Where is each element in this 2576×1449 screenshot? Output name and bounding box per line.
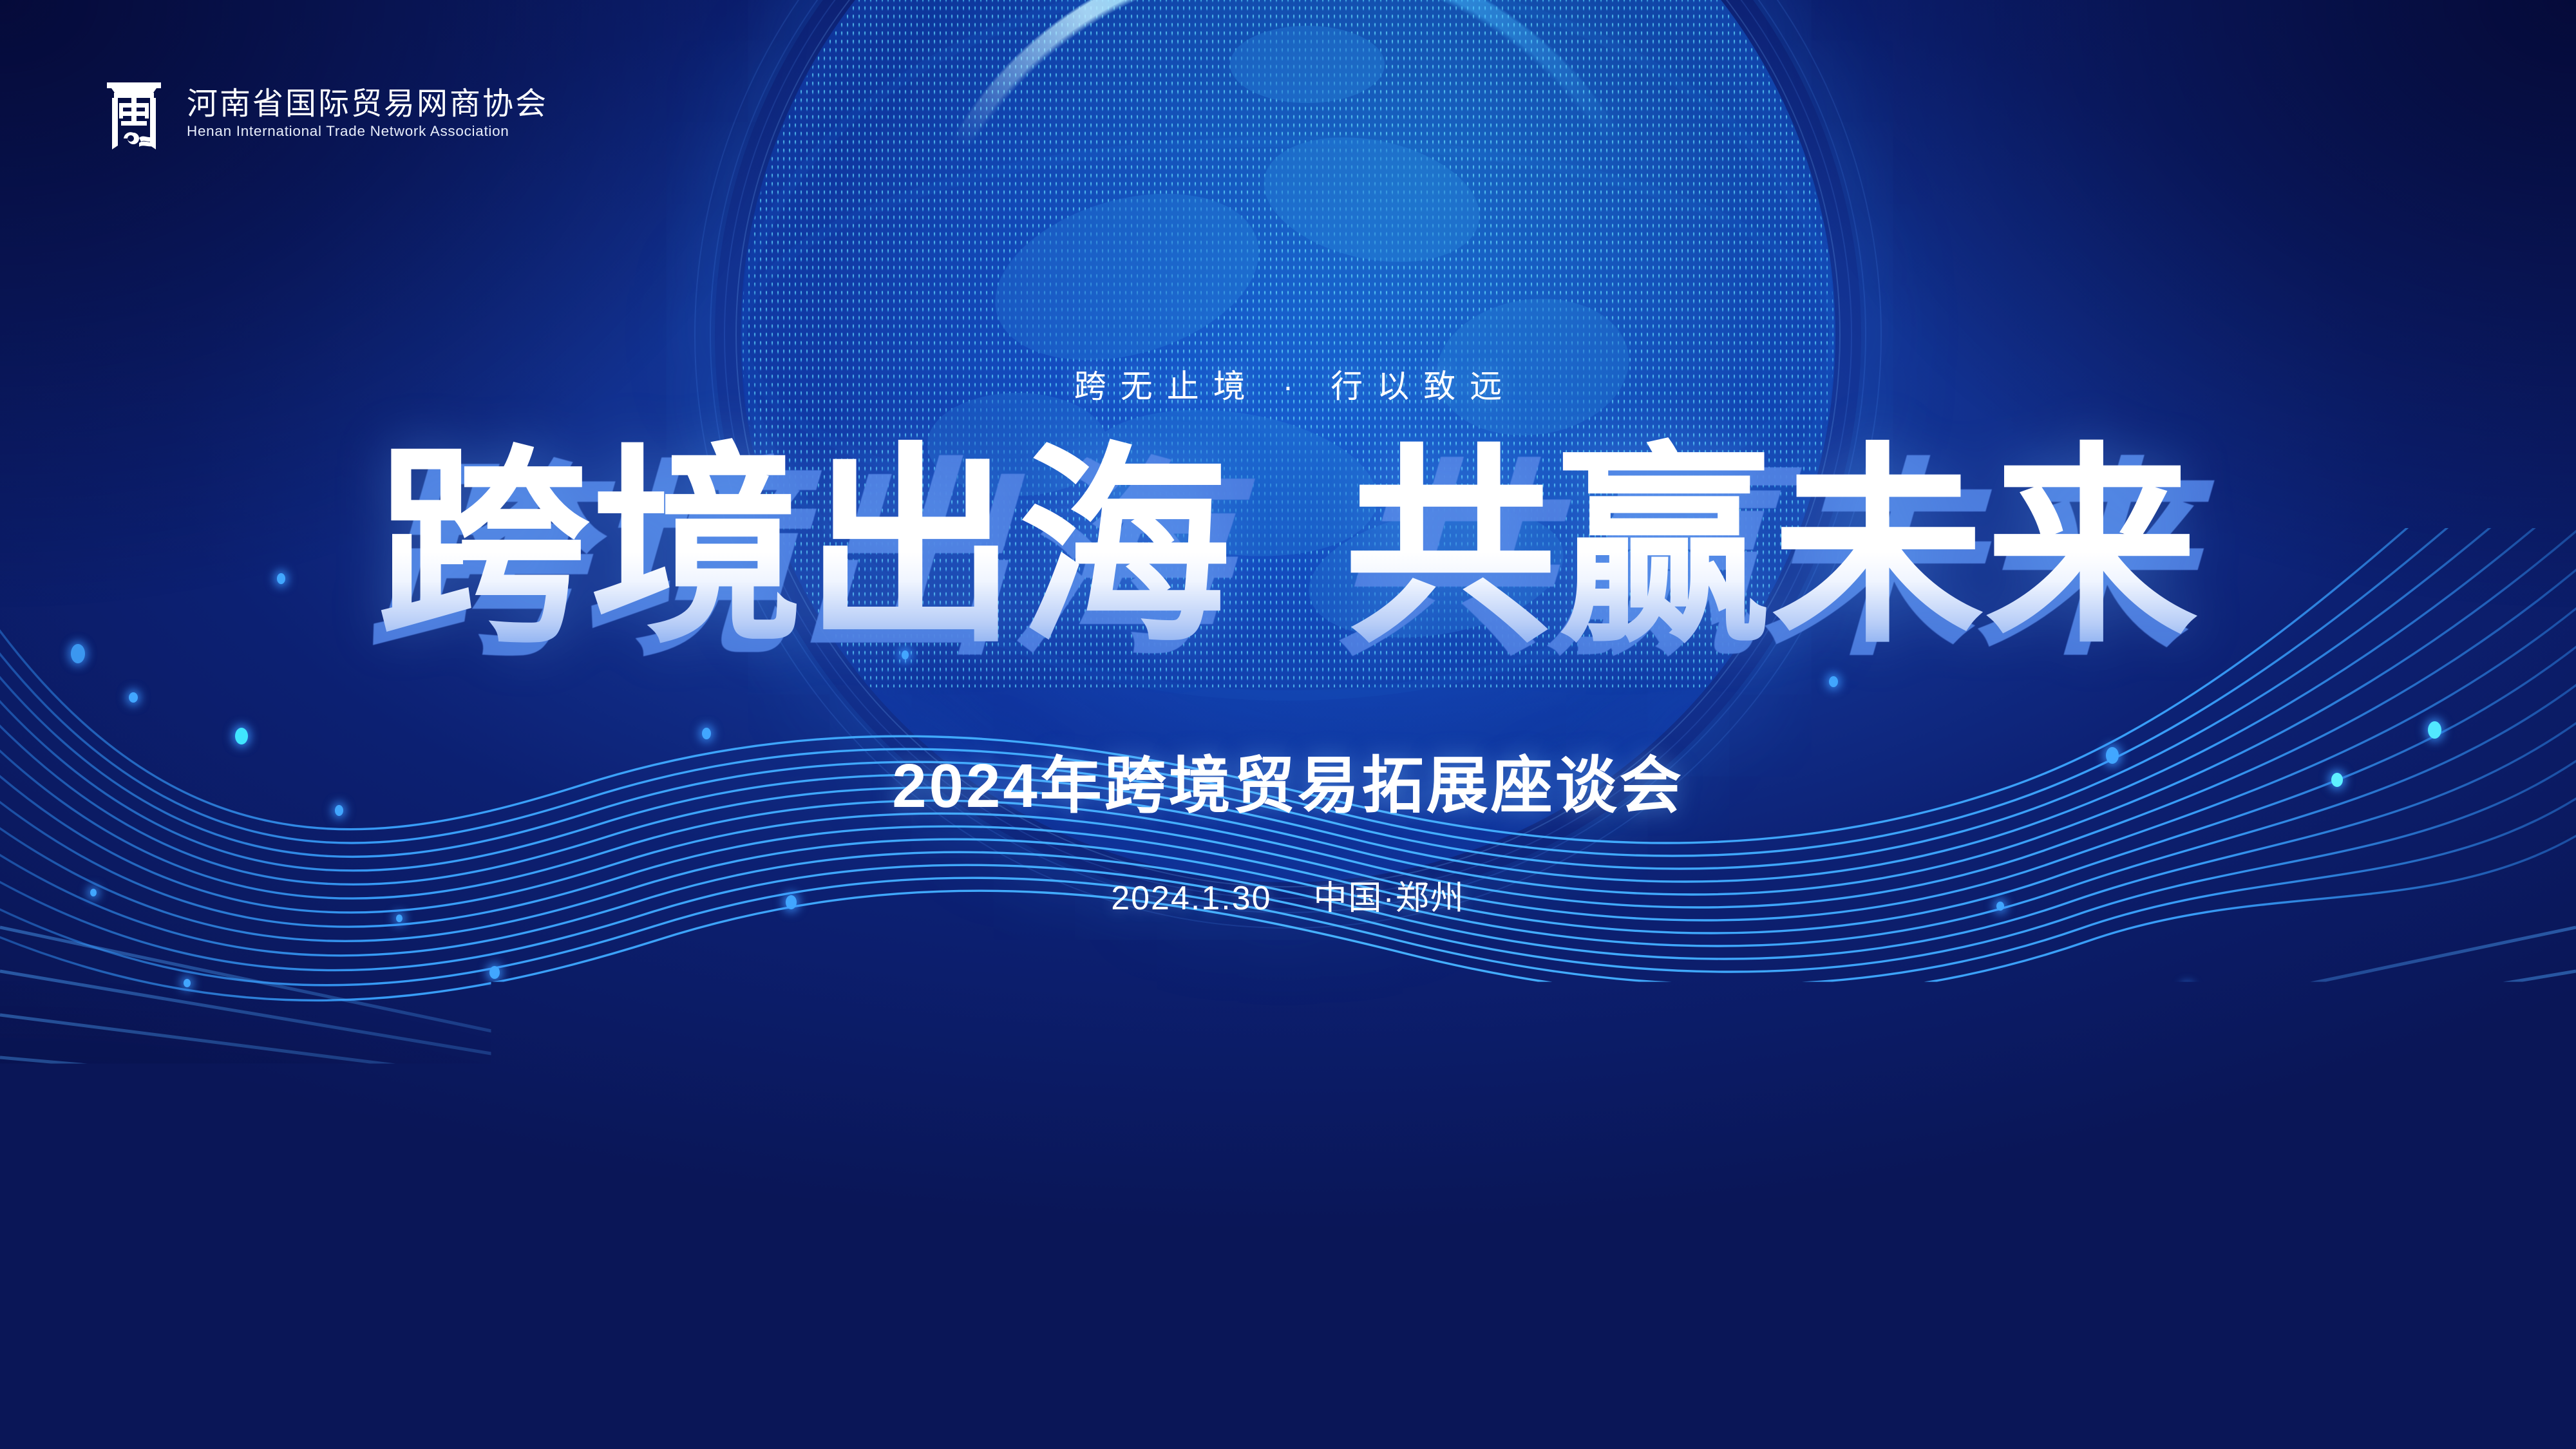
logo-name-cn: 河南省国际贸易网商协会 bbox=[187, 89, 548, 120]
event-poster: 河南省国际贸易网商协会 Henan International Trade Ne… bbox=[0, 0, 2576, 1449]
headline-face-2: 共赢未来 bbox=[1344, 429, 2199, 667]
association-logo[interactable]: 河南省国际贸易网商协会 Henan International Trade Ne… bbox=[103, 76, 548, 152]
headline-face-1: 跨境出海 bbox=[377, 429, 1232, 667]
logo-name-en: Henan International Trade Network Associ… bbox=[187, 124, 548, 139]
event-tagline: 跨无止境 · 行以致远 bbox=[0, 361, 2576, 407]
event-date: 2024.1.30 bbox=[1111, 880, 1271, 917]
event-location: 中国·郑州 bbox=[1313, 880, 1464, 917]
city-skyline bbox=[998, 1001, 1578, 1169]
event-headline: 跨境出海 跨境出海 共赢未来 共赢未来 bbox=[0, 442, 2576, 654]
henan-trade-seal-logo-icon bbox=[103, 76, 165, 152]
light-ground-plane bbox=[0, 1153, 2576, 1449]
event-subtitle: 2024年跨境贸易拓展座谈会 bbox=[0, 747, 2576, 826]
ground-light-rays bbox=[0, 1153, 2576, 1449]
headline-group-2: 共赢未来 共赢未来 bbox=[1344, 442, 2199, 654]
event-datebar: 2024.1.30 中国·郑州 bbox=[0, 871, 2576, 919]
headline-group-1: 跨境出海 跨境出海 bbox=[377, 442, 1232, 654]
